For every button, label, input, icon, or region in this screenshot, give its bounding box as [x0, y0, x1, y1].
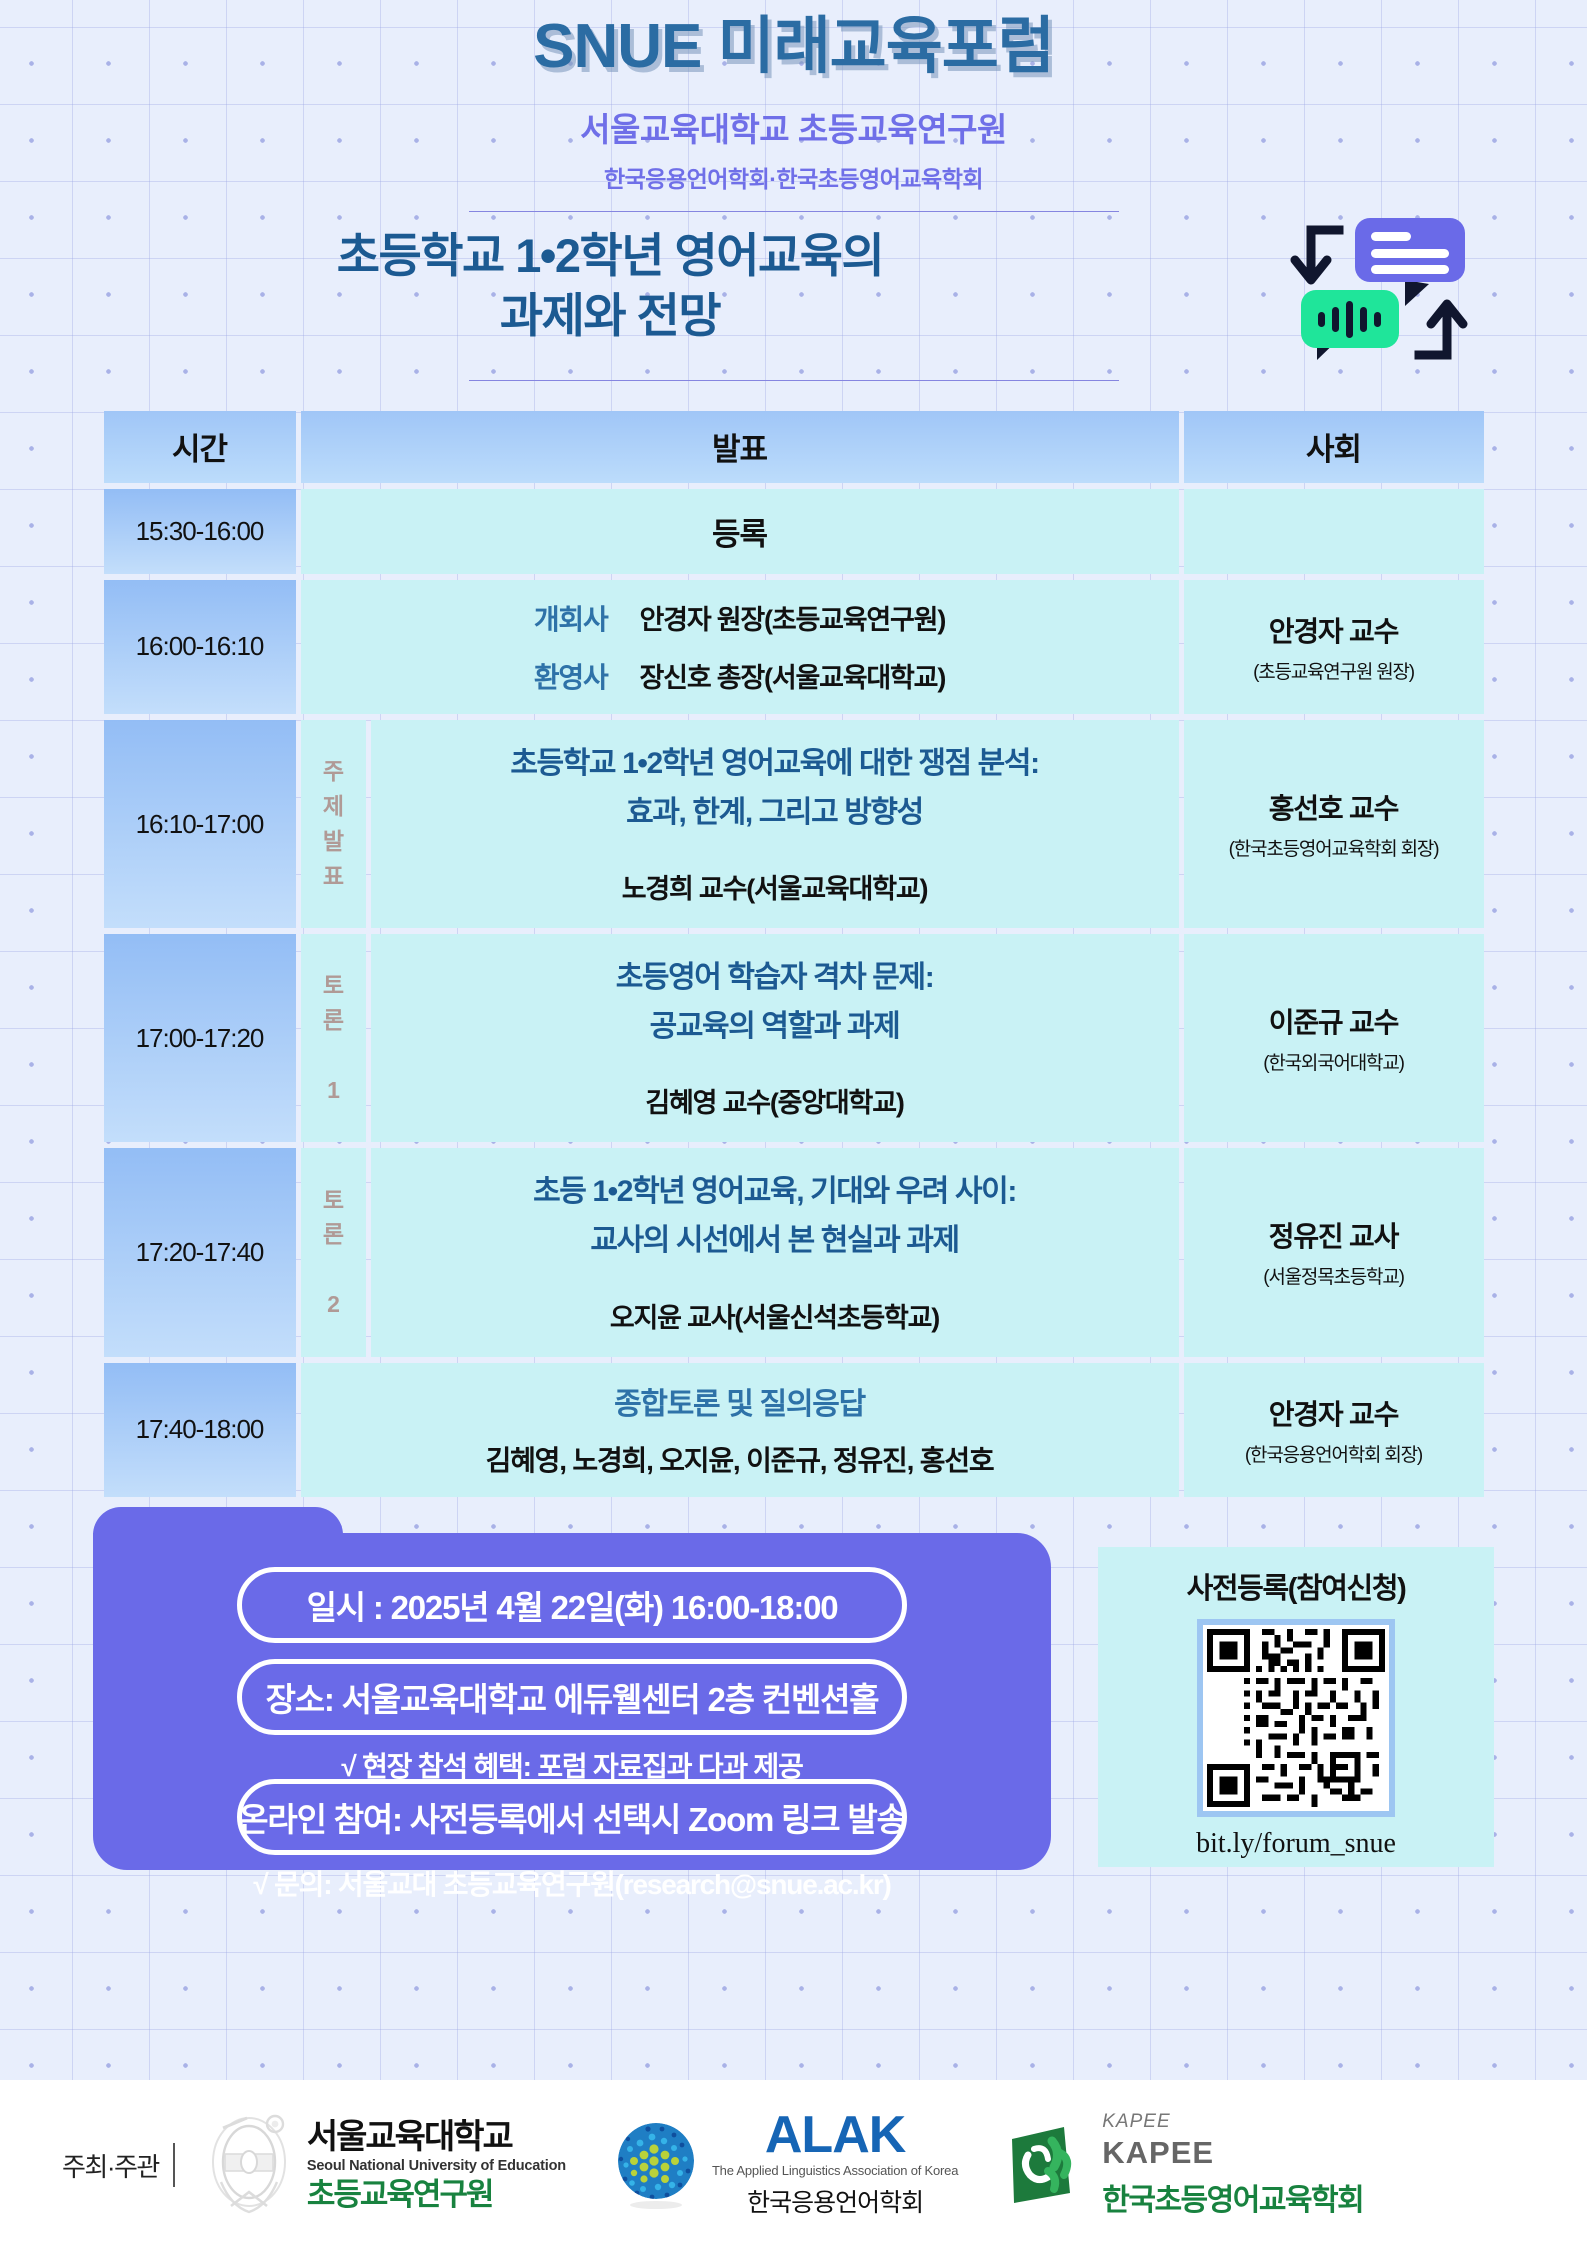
- row-content: 개회사 안경자 원장(초등교육연구원) 환영사 장신호 총장(서울교육대학교): [301, 580, 1179, 714]
- row-time: 15:30-16:00: [104, 489, 296, 574]
- table-row: 17:40-18:00 종합토론 및 질의응답 김혜영, 노경희, 오지윤, 이…: [104, 1363, 1484, 1497]
- table-row: 17:20-17:40 토론2 초등 1•2학년 영어교육, 기대와 우려 사이…: [104, 1148, 1484, 1356]
- table-row: 15:30-16:00 등록: [104, 489, 1484, 574]
- row-content: 등록: [301, 489, 1179, 574]
- row-content: 초등 1•2학년 영어교육, 기대와 우려 사이: 교사의 시선에서 본 현실과…: [371, 1148, 1179, 1356]
- row-content: 종합토론 및 질의응답 김혜영, 노경희, 오지윤, 이준규, 정유진, 홍선호: [301, 1363, 1179, 1497]
- column-header-time: 시간: [104, 411, 296, 483]
- host-affiliation: (한국초등영어교육학회 회장): [1184, 834, 1484, 861]
- poster-header: SNUE 미래교육포럼 서울교육대학교 초등교육연구원 한국응용언어학회·한국초…: [0, 0, 1587, 381]
- welcome-address-label: 환영사: [534, 656, 608, 696]
- row-host: 안경자 교수 (초등교육연구원 원장): [1184, 580, 1484, 714]
- host-name: 안경자 교수: [1184, 1393, 1484, 1433]
- row-time: 17:20-17:40: [104, 1148, 296, 1356]
- row-host: 안경자 교수 (한국응용언어학회 회장): [1184, 1363, 1484, 1497]
- kapee-name-ko: 한국초등영어교육학회: [1102, 2175, 1363, 2219]
- panel-title: 종합토론 및 질의응답: [301, 1379, 1179, 1423]
- snue-wordmark: 서울교육대학교 Seoul National University of Edu…: [307, 2120, 566, 2210]
- snue-name-en: Seoul National University of Education: [307, 2158, 566, 2174]
- registration-url[interactable]: bit.ly/forum_snue: [1098, 1828, 1494, 1860]
- row-host: [1184, 489, 1484, 574]
- schedule-table: 시간 발표 사회 15:30-16:00 등록 16:00-16:10 개회사: [99, 405, 1489, 1503]
- registration-qr-card[interactable]: 사전등록(참여신청): [1098, 1547, 1494, 1867]
- alak-name-en: The Applied Linguistics Association of K…: [712, 2163, 958, 2178]
- session-title-line-1: 초등영어 학습자 격차 문제:: [381, 954, 1169, 1003]
- qr-code-icon[interactable]: [1207, 1629, 1385, 1807]
- row-time: 16:00-16:10: [104, 580, 296, 714]
- session-title-line-2: 공교육의 역할과 과제: [381, 1003, 1169, 1052]
- table-row: 17:00-17:20 토론1 초등영어 학습자 격차 문제: 공교육의 역할과…: [104, 934, 1484, 1142]
- footer-logos: 주최·주관 서울교육대학교 Seoul National University …: [0, 2085, 1587, 2245]
- snue-name-ko: 서울교육대학교: [307, 2120, 566, 2154]
- kapee-wordmark: KAPEE KAPEE 한국초등영어교육학회: [1102, 2111, 1363, 2219]
- row-tag-keynote: 주제발표: [301, 720, 366, 928]
- host-affiliation: (한국응용언어학회 회장): [1184, 1440, 1484, 1467]
- host-organization: 서울교육대학교 초등교육연구원: [0, 103, 1587, 151]
- logo-alak: ALAK The Applied Linguistics Association…: [610, 2111, 958, 2219]
- host-name: 이준규 교수: [1184, 1001, 1484, 1041]
- registration-label: 등록: [301, 489, 1179, 574]
- alak-globe-icon: [610, 2117, 706, 2213]
- row-time: 16:10-17:00: [104, 720, 296, 928]
- session-speaker: 노경희 교수(서울교육대학교): [381, 867, 1169, 906]
- alak-wordmark: ALAK The Applied Linguistics Association…: [712, 2111, 958, 2219]
- row-content: 초등영어 학습자 격차 문제: 공교육의 역할과 과제 김혜영 교수(중앙대학교…: [371, 934, 1179, 1142]
- row-host: 홍선호 교수 (한국초등영어교육학회 회장): [1184, 720, 1484, 928]
- host-affiliation: (한국외국어대학교): [1184, 1048, 1484, 1075]
- forum-title-line-1: 초등학교 1•2학년 영어교육의: [0, 226, 1220, 286]
- divider-bottom: [469, 380, 1119, 381]
- online-participation-pill: 온라인 참여: 사전등록에서 선택시 Zoom 링크 발송: [237, 1779, 907, 1855]
- snue-institute-name: 초등교육연구원: [307, 2179, 566, 2210]
- qr-heading: 사전등록(참여신청): [1098, 1547, 1494, 1607]
- host-affiliation: (초등교육연구원 원장): [1184, 657, 1484, 684]
- column-header-host: 사회: [1184, 411, 1484, 483]
- row-host: 정유진 교사 (서울정목초등학교): [1184, 1148, 1484, 1356]
- opening-address-speaker: 안경자 원장(초등교육연구원): [640, 598, 946, 638]
- session-speaker: 오지윤 교사(서울신석초등학교): [381, 1296, 1169, 1335]
- session-title-line-1: 초등학교 1•2학년 영어교육에 대한 쟁점 분석:: [381, 740, 1169, 789]
- footer-divider: [173, 2143, 175, 2187]
- host-label: 주최·주관: [62, 2147, 159, 2184]
- logo-snue: 서울교육대학교 Seoul National University of Edu…: [201, 2110, 566, 2220]
- forum-title-line-2: 과제와 전망: [0, 286, 1220, 346]
- snue-emblem-icon: [201, 2110, 297, 2220]
- divider-top: [469, 211, 1119, 212]
- row-tag-discussion-1: 토론1: [301, 934, 366, 1142]
- info-card: 일시 : 2025년 4월 22일(화) 16:00-18:00 장소: 서울교…: [93, 1533, 1051, 1870]
- kapee-acronym: KAPEE: [1102, 2135, 1363, 2171]
- logo-kapee: KAPEE KAPEE 한국초등영어교육학회: [1004, 2111, 1363, 2219]
- session-speaker: 김혜영 교수(중앙대학교): [381, 1081, 1169, 1120]
- alak-acronym: ALAK: [712, 2111, 958, 2160]
- associations-line: 한국응용언어학회·한국초등영어교육학회: [0, 160, 1587, 194]
- host-name: 안경자 교수: [1184, 610, 1484, 650]
- table-header-row: 시간 발표 사회: [104, 411, 1484, 483]
- page-title: 초등학교 1•2학년 영어교육의 과제와 전망: [0, 226, 1220, 346]
- alak-name-ko: 한국응용언어학회: [712, 2183, 958, 2219]
- panel-participants: 김혜영, 노경희, 오지윤, 이준규, 정유진, 홍선호: [301, 1439, 1179, 1479]
- host-affiliation: (서울정목초등학교): [1184, 1262, 1484, 1289]
- row-content: 초등학교 1•2학년 영어교육에 대한 쟁점 분석: 효과, 한계, 그리고 방…: [371, 720, 1179, 928]
- column-header-presentation: 발표: [301, 411, 1179, 483]
- brand-title: SNUE 미래교육포럼: [0, 14, 1587, 81]
- host-name: 홍선호 교수: [1184, 787, 1484, 827]
- row-time: 17:40-18:00: [104, 1363, 296, 1497]
- opening-address-label: 개회사: [534, 598, 608, 638]
- event-date-pill: 일시 : 2025년 4월 22일(화) 16:00-18:00: [237, 1567, 907, 1643]
- event-place-pill: 장소: 서울교육대학교 에듀웰센터 2층 컨벤션홀: [237, 1659, 907, 1735]
- session-title-line-1: 초등 1•2학년 영어교육, 기대와 우려 사이:: [381, 1168, 1169, 1217]
- table-row: 16:10-17:00 주제발표 초등학교 1•2학년 영어교육에 대한 쟁점 …: [104, 720, 1484, 928]
- row-host: 이준규 교수 (한국외국어대학교): [1184, 934, 1484, 1142]
- qr-code-frame[interactable]: [1197, 1619, 1395, 1817]
- row-tag-discussion-2: 토론2: [301, 1148, 366, 1356]
- kapee-leaf-icon: [1004, 2119, 1096, 2211]
- translate-speech-bubbles-icon: [1277, 208, 1487, 368]
- row-time: 17:00-17:20: [104, 934, 296, 1142]
- session-title-line-2: 교사의 시선에서 본 현실과 과제: [381, 1217, 1169, 1266]
- host-name: 정유진 교사: [1184, 1215, 1484, 1255]
- session-title-line-2: 효과, 한계, 그리고 방향성: [381, 789, 1169, 838]
- welcome-address-speaker: 장신호 총장(서울교육대학교): [640, 656, 946, 696]
- contact-line: √ 문의: 서울교대 초등교육연구원(research@snue.ac.kr): [253, 1863, 890, 1903]
- table-row: 16:00-16:10 개회사 안경자 원장(초등교육연구원) 환영사 장신호 …: [104, 580, 1484, 714]
- kapee-arc-text: KAPEE: [1102, 2111, 1363, 2133]
